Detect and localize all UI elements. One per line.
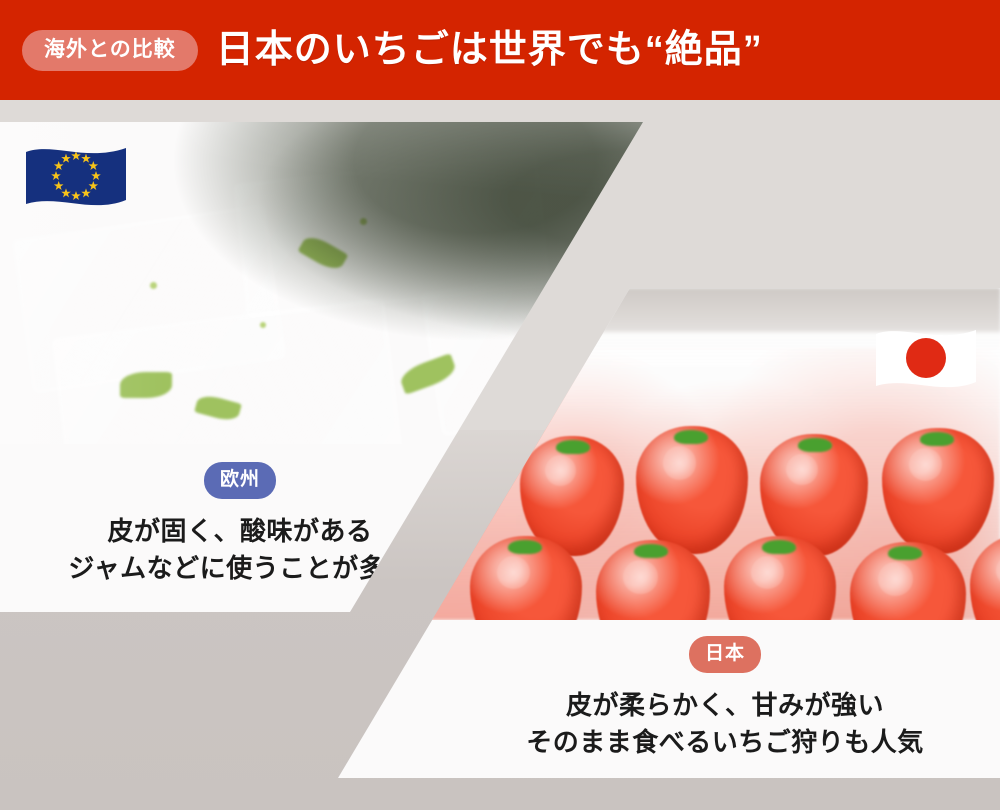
europe-caption-text: 皮が固く、酸味がある ジャムなどに使うことが多い [68,513,411,587]
japan-caption-text: 皮が柔らかく、甘みが強い そのまま食べるいちご狩りも人気 [526,687,924,761]
europe-caption-line-2: ジャムなどに使うことが多い [68,550,411,587]
europe-caption-line-1: 皮が固く、酸味がある [68,513,411,550]
region-pill-europe: 欧州 [204,462,276,499]
jp-flag-icon [872,320,980,396]
infographic-stage: 海外との比較 日本のいちごは世界でも“絶品” 欧州 皮が固く、酸味がある ジャム… [0,0,1000,810]
strawberry-stem [508,540,542,554]
strawberry-stem [556,440,590,454]
header-category-badge: 海外との比較 [22,30,198,71]
region-pill-japan: 日本 [689,636,761,673]
strawberry-stem [888,546,922,560]
strawberry-stem [798,438,832,452]
japan-caption-block: 日本 皮が柔らかく、甘みが強い そのまま食べるいちご狩りも人気 [450,620,1000,778]
strawberry-stem [634,544,668,558]
japan-caption-line-2: そのまま食べるいちご狩りも人気 [526,724,924,761]
japan-caption-line-1: 皮が柔らかく、甘みが強い [526,687,924,724]
strawberry-stem [762,540,796,554]
strawberry-stem [920,432,954,446]
eu-flag-icon [22,138,130,214]
page-title: 日本のいちごは世界でも“絶品” [216,31,763,69]
header-bar: 海外との比較 日本のいちごは世界でも“絶品” [0,0,1000,100]
strawberry-stem [674,430,708,444]
